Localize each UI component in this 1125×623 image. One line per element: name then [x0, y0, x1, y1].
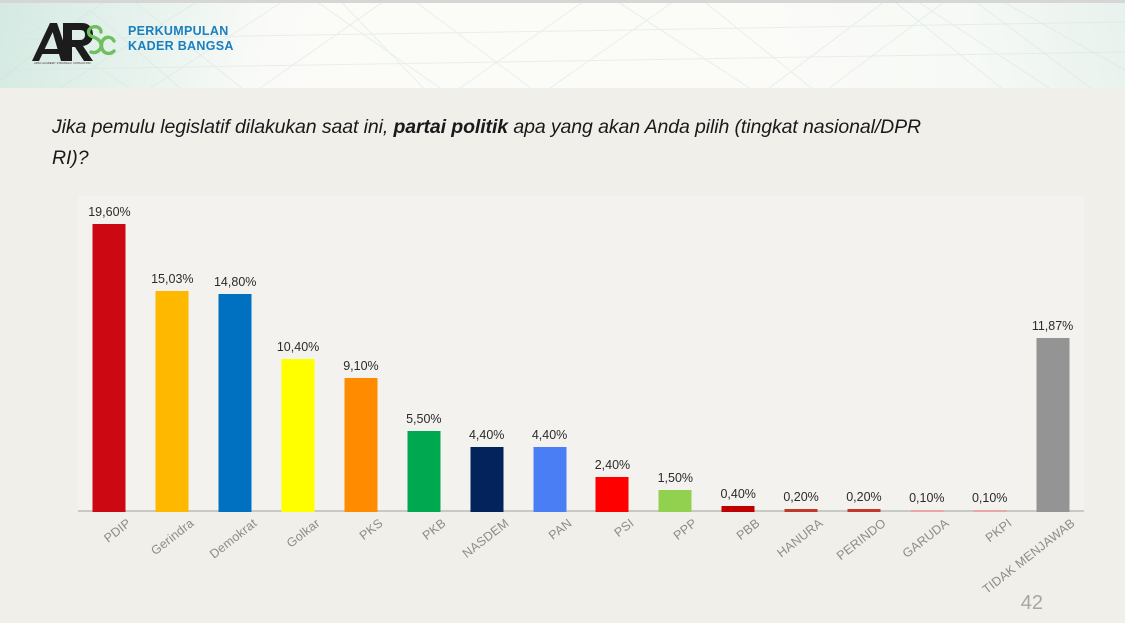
question-emphasis: partai politik	[393, 116, 508, 138]
bar-value-label: 1,50%	[658, 471, 693, 485]
bar-golkar[interactable]	[282, 359, 315, 512]
bar-pkpi[interactable]	[973, 510, 1006, 512]
bar-group: 4,40%	[518, 196, 581, 512]
bar-group: 9,10%	[330, 196, 393, 512]
axis-category-label: PERINDO	[834, 516, 889, 563]
bar-pks[interactable]	[344, 378, 377, 512]
bar-value-label: 14,80%	[214, 275, 256, 289]
bar-gerindra[interactable]	[156, 291, 189, 512]
arsc-logo-icon: ARSC ACADEMY STRATEGIC CONSULTING	[30, 20, 116, 66]
axis-category-label: PKS	[357, 516, 386, 543]
organization-name: PERKUMPULAN KADER BANGSA	[128, 24, 234, 54]
bar-group: 0,10%	[895, 196, 958, 512]
bar-group: 0,20%	[770, 196, 833, 512]
bar-chart: 19,60%15,03%14,80%10,40%9,10%5,50%4,40%4…	[78, 196, 1084, 512]
bar-ppp[interactable]	[659, 490, 692, 512]
bar-hanura[interactable]	[785, 509, 818, 512]
bar-pdip[interactable]	[93, 224, 126, 512]
bar-group: 0,20%	[833, 196, 896, 512]
question-prefix: Jika pemulu legislatif dilakukan saat in…	[52, 116, 393, 138]
bar-demokrat[interactable]	[219, 294, 252, 512]
axis-category-label: HANURA	[775, 516, 826, 560]
logo-tagline: ARSC ACADEMY STRATEGIC CONSULTING	[34, 62, 96, 65]
axis-category-label: PDIP	[102, 516, 134, 545]
bar-value-label: 0,10%	[972, 491, 1007, 505]
axis-category-label: PAN	[546, 516, 575, 543]
bar-group: 15,03%	[141, 196, 204, 512]
bar-value-label: 4,40%	[532, 428, 567, 442]
bar-value-label: 9,10%	[343, 359, 378, 373]
bar-group: 19,60%	[78, 196, 141, 512]
bar-value-label: 0,20%	[783, 490, 818, 504]
bar-group: 5,50%	[392, 196, 455, 512]
bar-group: 2,40%	[581, 196, 644, 512]
header-top-rule	[0, 0, 1125, 3]
bar-psi[interactable]	[596, 477, 629, 512]
slide-header: ARSC ACADEMY STRATEGIC CONSULTING PERKUM…	[0, 0, 1125, 88]
bar-group: 10,40%	[267, 196, 330, 512]
axis-category-label: PKPI	[983, 516, 1015, 545]
slide-canvas: ARSC ACADEMY STRATEGIC CONSULTING PERKUM…	[0, 0, 1125, 623]
axis-category-label: NASDEM	[460, 516, 512, 561]
axis-category-label: Golkar	[284, 516, 323, 550]
organization-name-line1: PERKUMPULAN	[128, 24, 229, 38]
bar-value-label: 19,60%	[88, 205, 130, 219]
bar-tidak-menjawab[interactable]	[1036, 338, 1069, 512]
bar-group: 1,50%	[644, 196, 707, 512]
axis-category-label: PPP	[671, 516, 700, 543]
bar-group: 4,40%	[455, 196, 518, 512]
bar-value-label: 10,40%	[277, 340, 319, 354]
axis-category-label: Gerindra	[149, 516, 197, 558]
organization-logo: ARSC ACADEMY STRATEGIC CONSULTING PERKUM…	[30, 20, 234, 66]
bar-group: 0,40%	[707, 196, 770, 512]
bar-value-label: 2,40%	[595, 458, 630, 472]
bar-group: 14,80%	[204, 196, 267, 512]
page-title: Jika pemulu legislatif dilakukan saat in…	[52, 112, 957, 174]
bar-garuda[interactable]	[910, 510, 943, 512]
axis-category-label: PKB	[420, 516, 449, 543]
bar-value-label: 11,87%	[1032, 319, 1073, 333]
axis-category-label: PSI	[612, 516, 637, 540]
page-number: 42	[1021, 592, 1043, 615]
axis-category-label: PBB	[734, 516, 763, 543]
bar-group: 0,10%	[958, 196, 1021, 512]
bar-value-label: 15,03%	[151, 272, 193, 286]
bar-value-label: 5,50%	[406, 412, 441, 426]
axis-category-label: GARUDA	[900, 516, 952, 561]
bar-value-label: 4,40%	[469, 428, 504, 442]
bar-pbb[interactable]	[722, 506, 755, 512]
bar-nasdem[interactable]	[470, 447, 503, 512]
bar-value-label: 0,40%	[720, 487, 755, 501]
organization-name-line2: KADER BANGSA	[128, 39, 234, 54]
axis-category-label: Demokrat	[207, 516, 260, 561]
bar-value-label: 0,20%	[846, 490, 881, 504]
bar-value-label: 0,10%	[909, 491, 944, 505]
bar-pan[interactable]	[533, 447, 566, 512]
bar-perindo[interactable]	[847, 509, 880, 512]
bar-pkb[interactable]	[407, 431, 440, 512]
bar-group: 11,87%	[1021, 196, 1084, 512]
